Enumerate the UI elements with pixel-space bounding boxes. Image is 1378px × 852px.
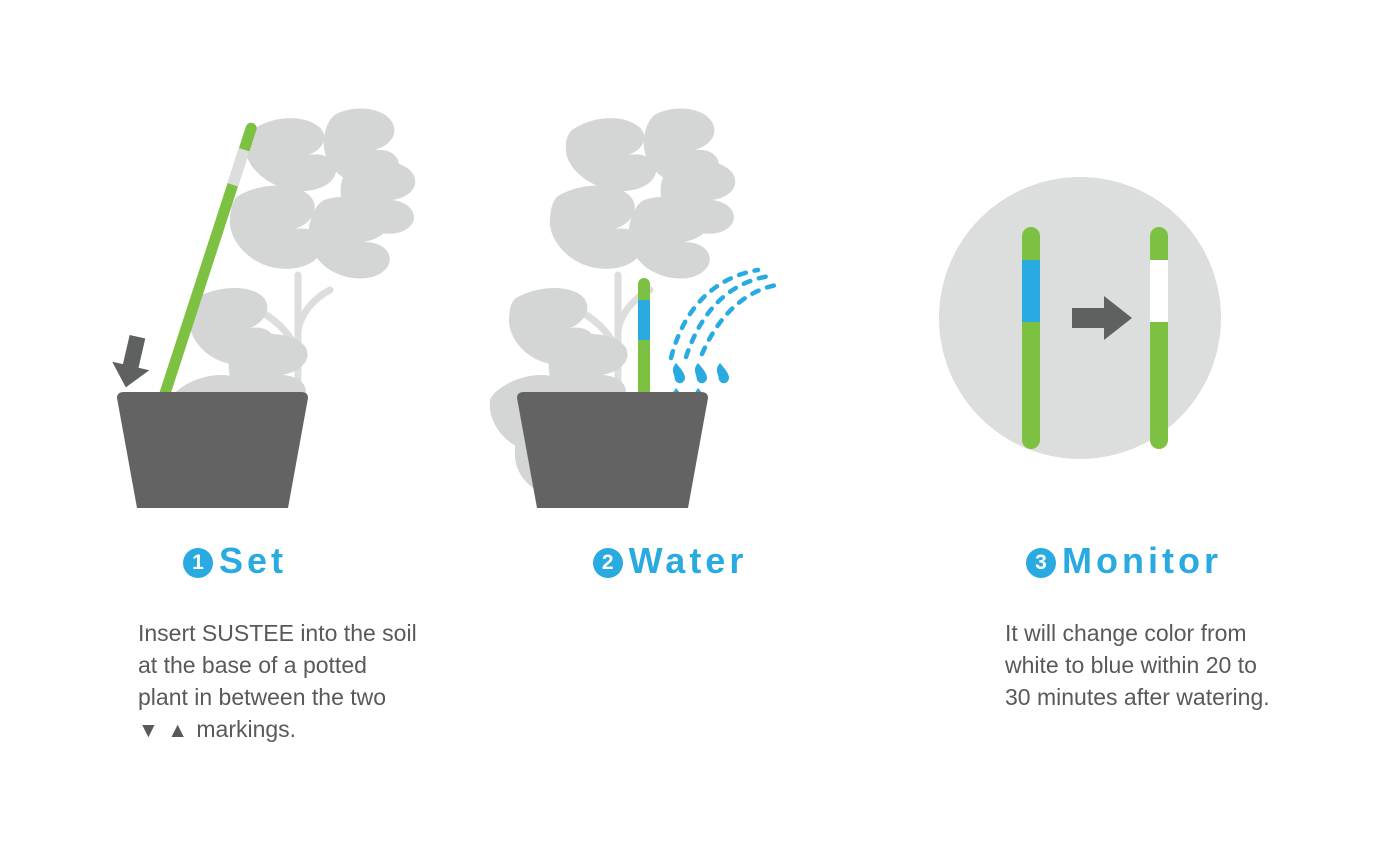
plant-pot <box>517 392 708 508</box>
illustration-set <box>0 100 470 530</box>
infographic-canvas: 1Set Insert SUSTEE into the soil at the … <box>0 0 1378 852</box>
step-title-water: Water <box>629 540 748 581</box>
probe-white-state <box>1150 227 1168 449</box>
step-description-set: Insert SUSTEE into the soil at the base … <box>138 617 488 747</box>
down-triangle-icon: ▼ <box>138 719 161 742</box>
step-heading-monitor: 3Monitor <box>870 543 1378 579</box>
sustee-probe-inserted <box>638 278 650 403</box>
step-title-monitor: Monitor <box>1062 540 1222 581</box>
step-heading-water: 2Water <box>470 543 870 579</box>
step-panel-water: 2Water It will change color from white t… <box>470 0 870 852</box>
step-title-set: Set <box>219 540 287 581</box>
step-number-badge-2: 2 <box>593 548 623 578</box>
plant-pot <box>117 392 308 508</box>
step-heading-set: 1Set <box>0 543 470 579</box>
illustration-water <box>470 100 870 530</box>
step-number-badge-3: 3 <box>1026 548 1056 578</box>
water-stream-arcs <box>671 270 782 358</box>
marking-text: markings. <box>196 716 296 742</box>
up-triangle-icon: ▲ <box>167 719 190 742</box>
step-panel-monitor: 3Monitor Blue▶enough water in soil White… <box>870 0 1378 852</box>
description-line: plant in between the two <box>138 681 488 713</box>
step-panel-set: 1Set Insert SUSTEE into the soil at the … <box>0 0 470 852</box>
step-number-badge-1: 1 <box>183 548 213 578</box>
insert-arrow-icon <box>107 332 156 391</box>
description-line: at the base of a potted <box>138 649 488 681</box>
probe-blue-state <box>1022 227 1040 449</box>
description-line: Insert SUSTEE into the soil <box>138 617 488 649</box>
marking-line: ▼ ▲ markings. <box>138 713 488 747</box>
illustration-monitor <box>870 100 1378 530</box>
